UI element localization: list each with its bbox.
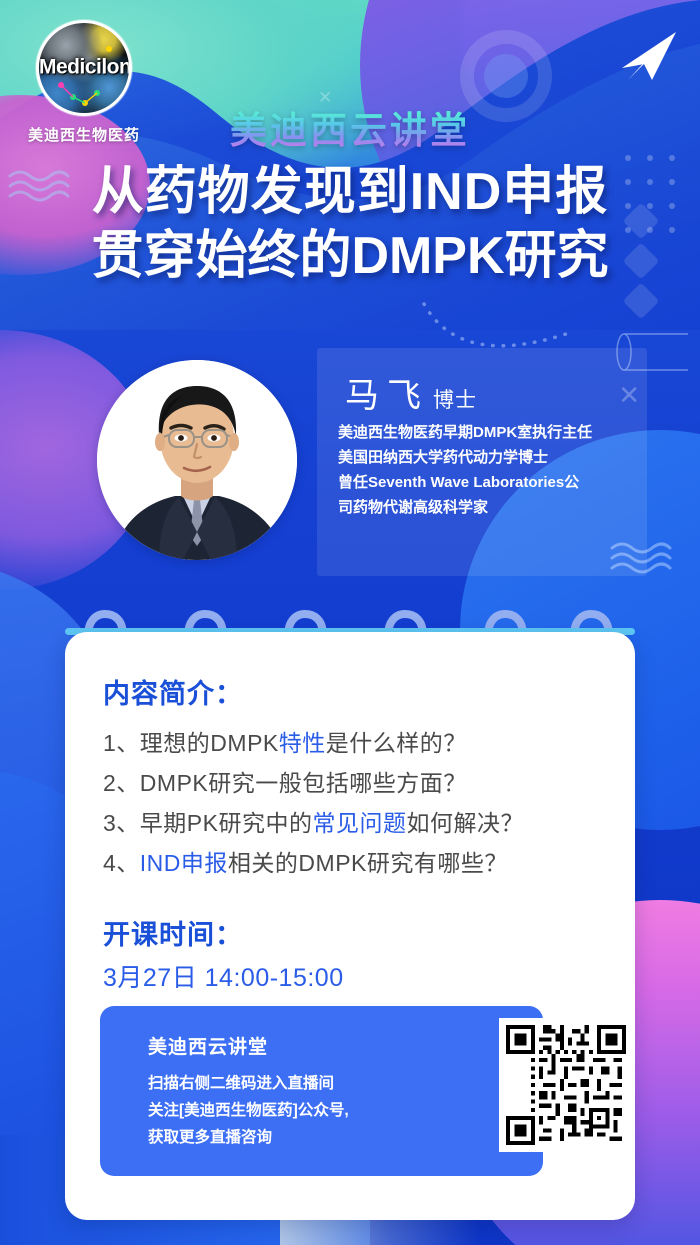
list-item-highlight: 特性: [279, 730, 326, 756]
list-item-highlight: 常见问题: [312, 810, 406, 836]
speaker-name-row: 马飞博士: [345, 368, 477, 417]
list-item-number: 4、: [103, 850, 140, 876]
list-item: 3、早期PK研究中的常见问题如何解决？: [103, 803, 607, 843]
speaker-bio-line-4: 司药物代谢高级科学家: [338, 495, 638, 520]
qr-instruction-line-1: 扫描右侧二维码进入直播间: [148, 1070, 349, 1097]
logo-wordmark: Medicilon: [39, 56, 129, 80]
speaker-bio: 美迪西生物医药早期DMPK室执行主任 美国田纳西大学药代动力学博士 曾任Seve…: [338, 420, 638, 520]
qr-code[interactable]: [499, 1018, 633, 1152]
speaker-bio-line-2: 美国田纳西大学药代动力学博士: [338, 445, 638, 470]
list-item-text: 早期PK研究中的: [140, 810, 313, 836]
schedule-label: 开课时间：: [103, 913, 607, 952]
page-title: 从药物发现到IND申报 贯穿始终的DMPK研究: [0, 160, 700, 288]
content-section-title: 内容简介：: [103, 672, 607, 711]
list-item-text: 是什么样的？: [326, 730, 467, 756]
list-item: 2、DMPK研究一般包括哪些方面？: [103, 763, 607, 803]
list-item-text: 如何解决？: [406, 810, 524, 836]
schedule-value: 3月27日 14:00-15:00: [103, 958, 607, 994]
qr-instruction-line-3: 获取更多直播咨询: [148, 1124, 349, 1151]
speaker-bio-line-1: 美迪西生物医药早期DMPK室执行主任: [338, 420, 638, 445]
speaker-honorific: 博士: [433, 389, 477, 412]
list-item: 1、理想的DMPK特性是什么样的？: [103, 723, 607, 763]
series-title: 美迪西云讲堂: [0, 100, 700, 154]
qr-instruction-line-2: 关注[美迪西生物医药]公众号,: [148, 1097, 349, 1124]
content-item-list: 1、理想的DMPK特性是什么样的？ 2、DMPK研究一般包括哪些方面？ 3、早期…: [103, 723, 607, 883]
list-item-text: 相关的DMPK研究有哪些？: [228, 850, 508, 876]
title-line-2: 贯穿始终的DMPK研究: [0, 224, 700, 288]
list-item-number: 2、: [103, 770, 140, 796]
list-item-number: 3、: [103, 810, 140, 836]
qr-panel-instructions: 扫描右侧二维码进入直播间 关注[美迪西生物医药]公众号, 获取更多直播咨询: [148, 1070, 349, 1151]
webinar-poster: ✕ ✕: [0, 0, 700, 1245]
list-item-text: 理想的DMPK: [140, 730, 279, 756]
qr-cta-panel[interactable]: 美迪西云讲堂 扫描右侧二维码进入直播间 关注[美迪西生物医药]公众号, 获取更多…: [100, 1006, 543, 1176]
speaker-bio-line-3: 曾任Seventh Wave Laboratories公: [338, 470, 638, 495]
list-item-number: 1、: [103, 730, 140, 756]
speaker-name: 马飞: [345, 377, 429, 415]
speaker-avatar: [97, 360, 297, 560]
list-item-text: DMPK研究一般包括哪些方面？: [140, 770, 467, 796]
qr-panel-heading: 美迪西云讲堂: [148, 1032, 268, 1059]
avatar-portrait-icon: [97, 360, 297, 560]
list-item: 4、IND申报相关的DMPK研究有哪些？: [103, 843, 607, 883]
qr-code-icon: [506, 1025, 626, 1145]
list-item-highlight: IND申报: [140, 850, 228, 876]
title-line-1: 从药物发现到IND申报: [0, 160, 700, 224]
